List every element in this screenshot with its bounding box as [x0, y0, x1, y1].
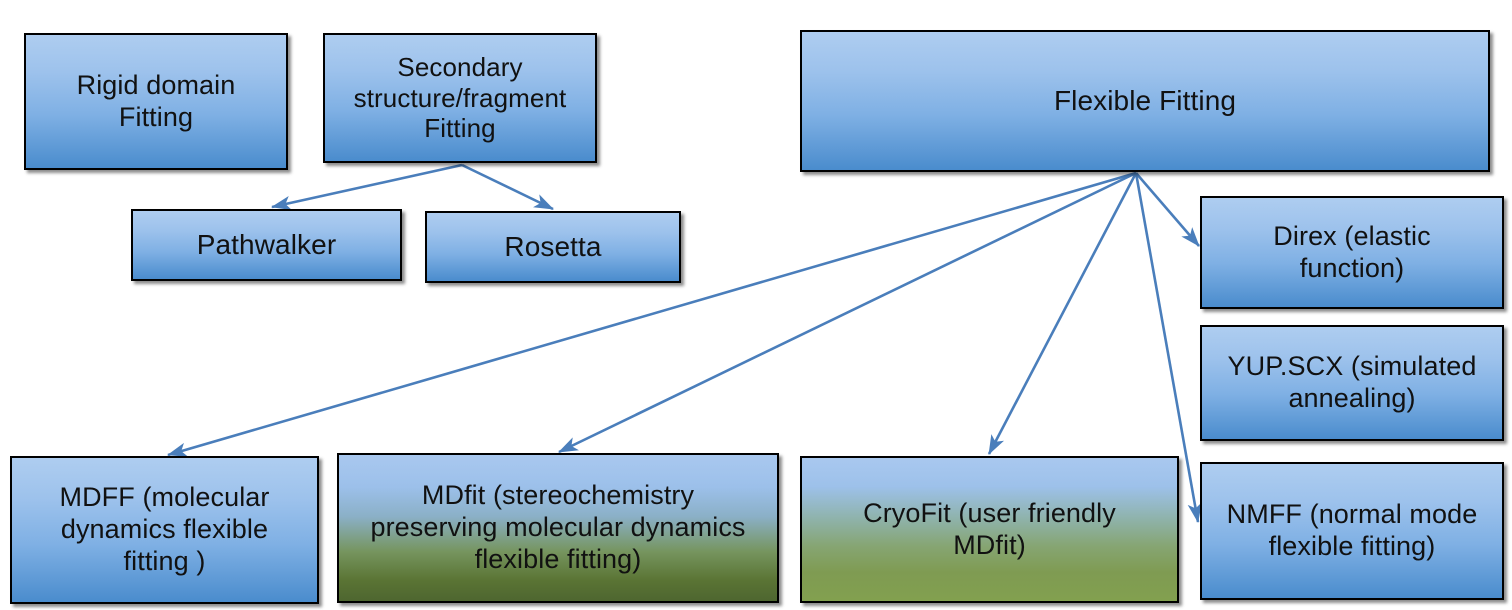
node-label-pathwalker: Pathwalker: [141, 228, 392, 261]
node-direx[interactable]: Direx (elastic function): [1200, 196, 1504, 309]
node-rosetta[interactable]: Rosetta: [425, 211, 681, 283]
node-label-mdff: MDFF (molecular dynamics flexible fittin…: [20, 482, 309, 578]
connector-secondary-to-pathwalker: [272, 165, 462, 207]
node-label-nmff: NMFF (normal mode flexible fitting): [1210, 499, 1494, 563]
node-label-cryofit: CryoFit (user friendly MDfit): [810, 498, 1169, 562]
node-label-rosetta: Rosetta: [435, 230, 671, 263]
node-yup-scx[interactable]: YUP.SCX (simulated annealing): [1200, 325, 1504, 441]
node-label-flexible-fitting: Flexible Fitting: [810, 84, 1480, 117]
node-label-mdfit: MDfit (stereochemistry preserving molecu…: [347, 480, 769, 576]
node-cryofit[interactable]: CryoFit (user friendly MDfit): [800, 456, 1179, 603]
node-mdff[interactable]: MDFF (molecular dynamics flexible fittin…: [10, 456, 319, 604]
diagram-canvas: Rigid domain FittingSecondary structure/…: [0, 0, 1512, 610]
node-label-rigid-domain-fitting: Rigid domain Fitting: [34, 70, 278, 134]
node-mdfit[interactable]: MDfit (stereochemistry preserving molecu…: [337, 453, 779, 603]
node-label-yup-scx: YUP.SCX (simulated annealing): [1210, 351, 1494, 415]
connector-secondary-to-rosetta: [462, 165, 553, 209]
node-label-direx: Direx (elastic function): [1210, 221, 1494, 285]
node-nmff[interactable]: NMFF (normal mode flexible fitting): [1200, 462, 1504, 600]
node-pathwalker[interactable]: Pathwalker: [131, 209, 402, 281]
connector-flexible-to-cryofit: [989, 173, 1136, 454]
node-secondary-structure-fragment-fitting[interactable]: Secondary structure/fragment Fitting: [323, 33, 597, 163]
node-rigid-domain-fitting[interactable]: Rigid domain Fitting: [24, 33, 288, 170]
node-label-secondary-structure-fragment-fitting: Secondary structure/fragment Fitting: [333, 52, 587, 144]
connector-flexible-to-direx: [1136, 173, 1199, 246]
node-flexible-fitting[interactable]: Flexible Fitting: [800, 30, 1490, 172]
